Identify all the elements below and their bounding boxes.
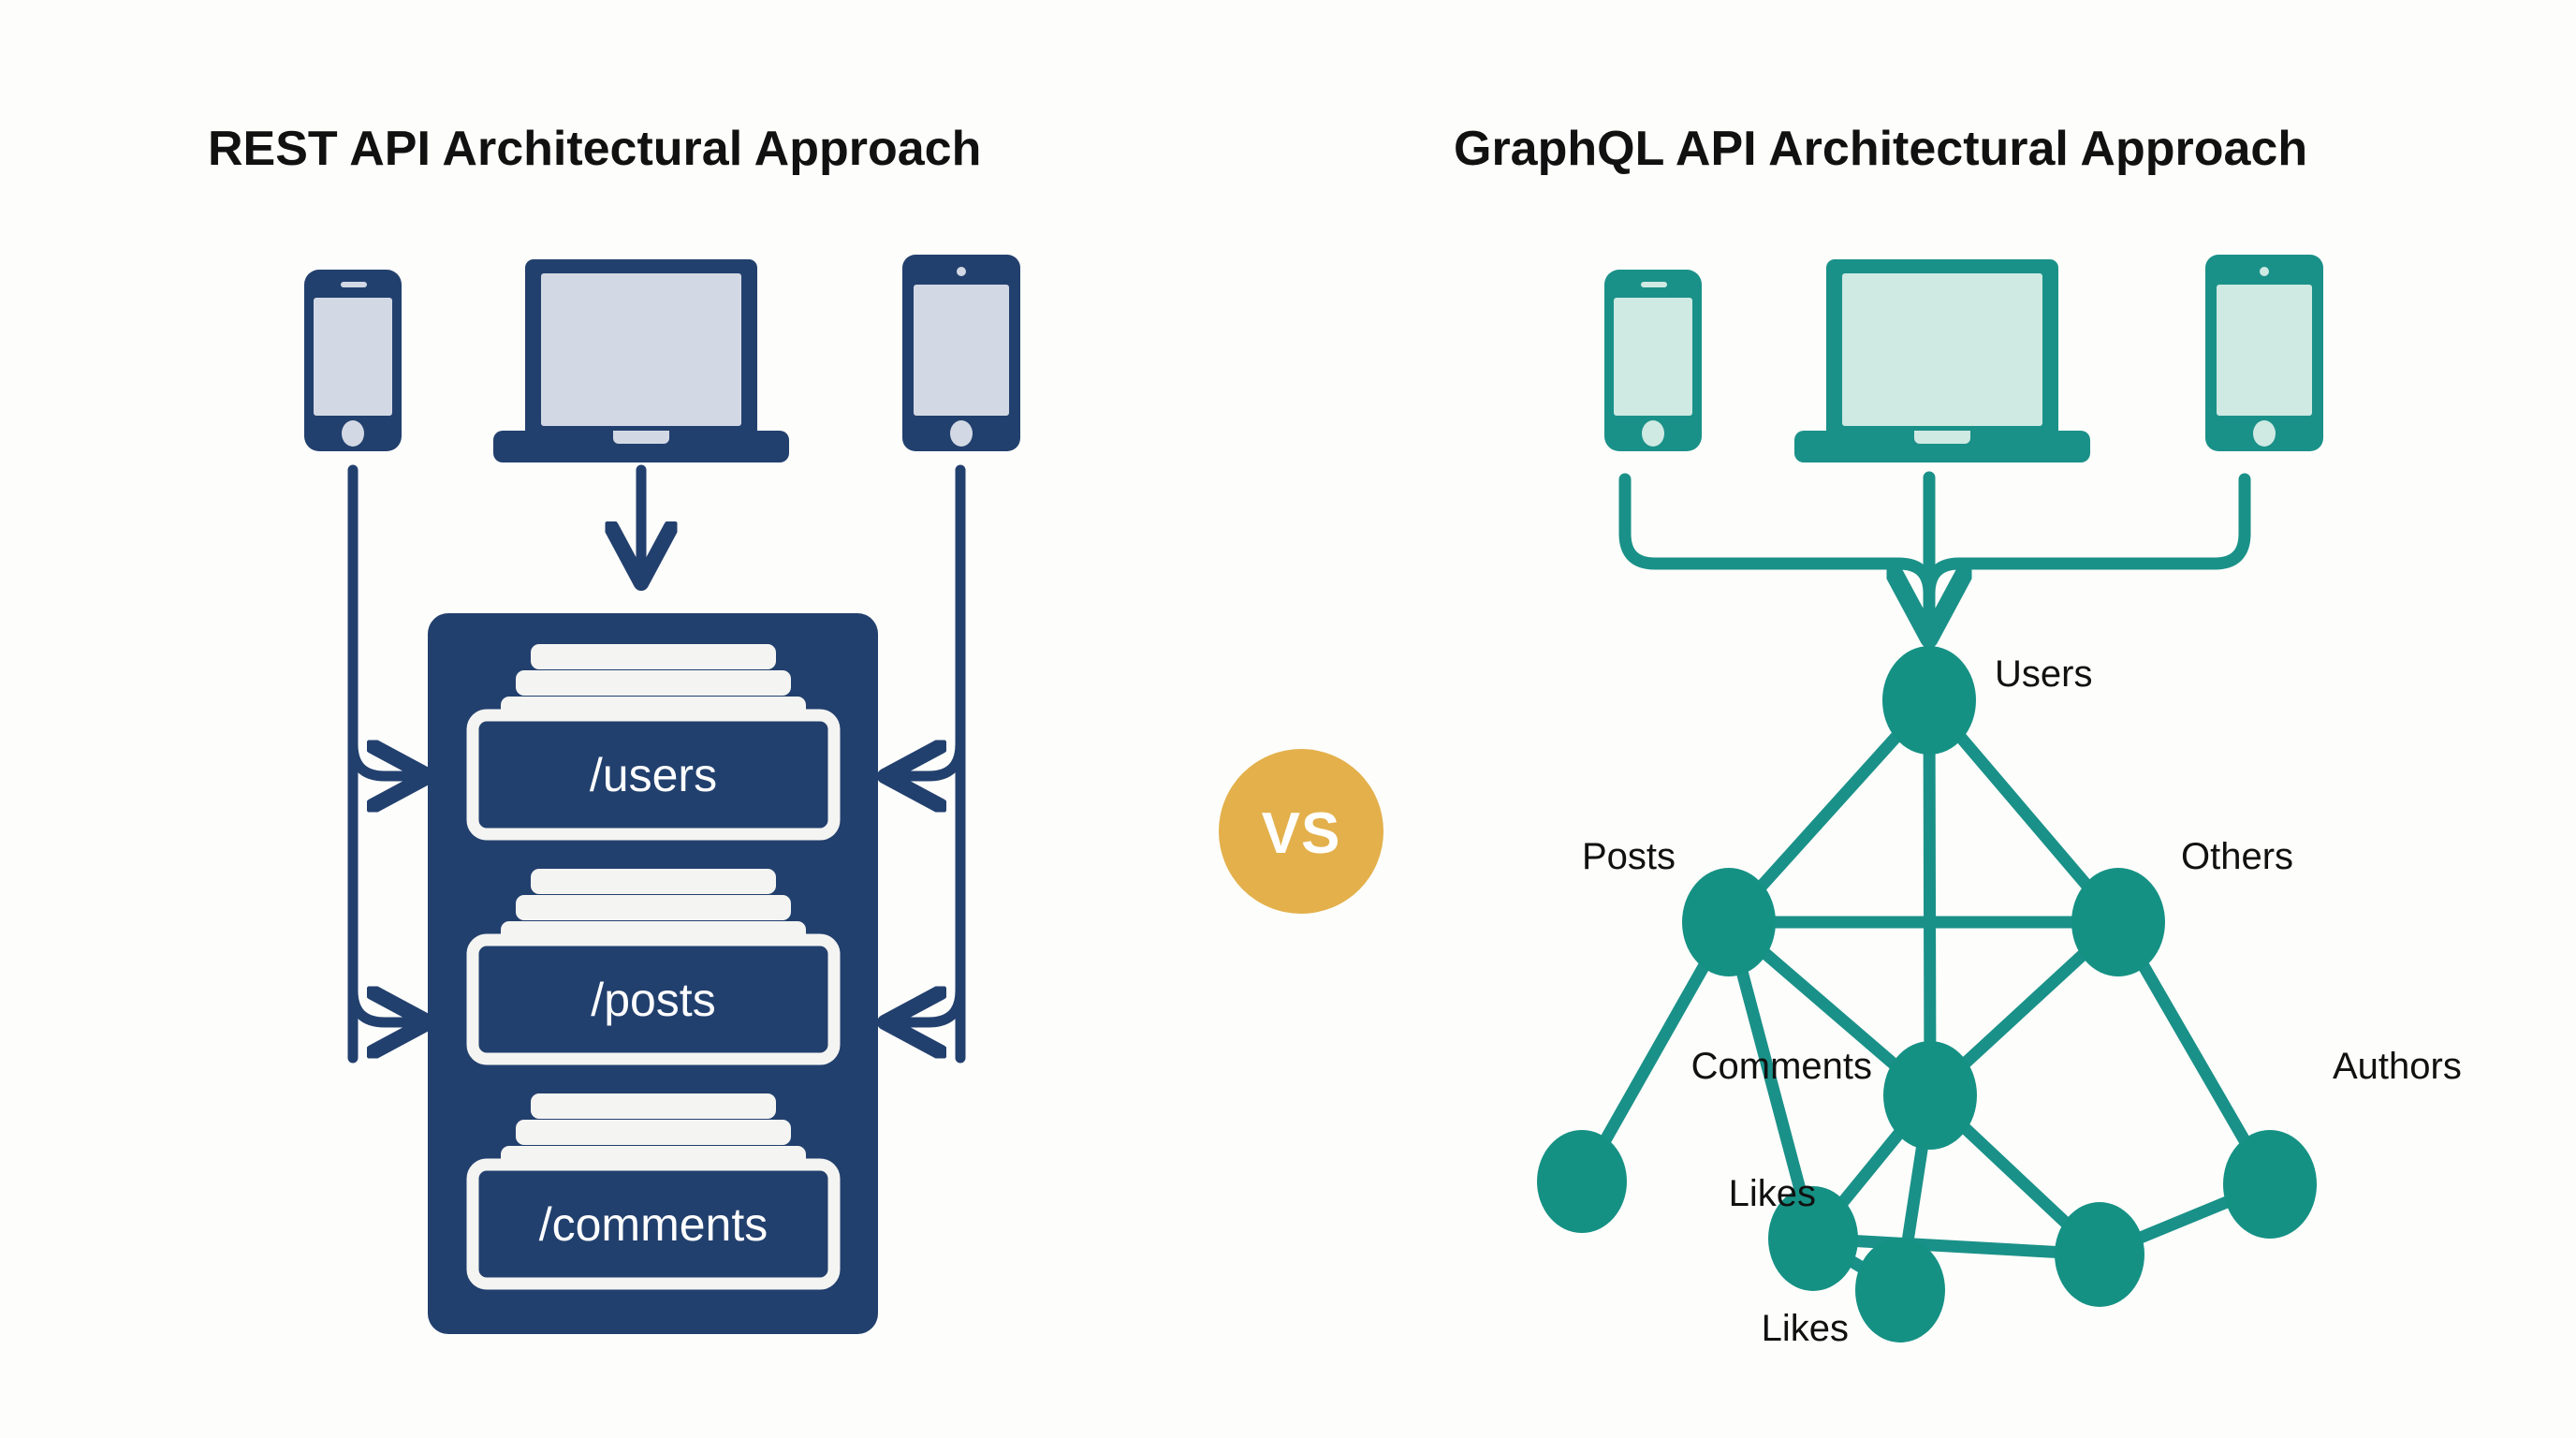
mobile-phone-icon (1604, 270, 1702, 451)
graph-node-label-comments: Comments (1691, 1046, 1872, 1087)
endpoint-card-comments[interactable]: /comments (473, 1093, 834, 1284)
graph-node-orphan[interactable] (1537, 1130, 1627, 1233)
tablet-icon (902, 255, 1020, 451)
tablet-icon (2205, 255, 2323, 451)
endpoint-label-users: /users (590, 749, 717, 801)
graph-node-label-likes-low: Likes (1762, 1308, 1849, 1349)
edge-users-comments (1929, 700, 1930, 1095)
laptop-icon (1794, 259, 2090, 462)
graph-node-authors[interactable] (2223, 1130, 2317, 1239)
rest-panel-title: REST API Architectural Approach (208, 122, 981, 176)
graph-node-others[interactable] (2071, 868, 2165, 976)
graph-node-label-likes-mid: Likes (1729, 1173, 1816, 1214)
graphql-panel-title: GraphQL API Architectural Approach (1454, 122, 2307, 176)
vs-badge-label: VS (1262, 801, 1341, 866)
graph-node-label-posts: Posts (1582, 836, 1676, 877)
mobile-phone-icon (304, 270, 402, 451)
endpoint-card-users[interactable]: /users (473, 644, 834, 834)
graph-node-label-others: Others (2181, 836, 2293, 877)
graph-node-label-authors: Authors (2333, 1046, 2462, 1087)
graph-node-label-users: Users (1995, 653, 2092, 695)
diagram-root: REST API Architectural Approach (0, 0, 2576, 1438)
rest-vs-graphql-diagram: REST API Architectural Approach (0, 0, 2576, 1438)
graph-node-users[interactable] (1882, 646, 1976, 755)
graph-node-likes-low[interactable] (1855, 1238, 1945, 1343)
graph-node-posts[interactable] (1682, 868, 1776, 976)
endpoint-card-posts[interactable]: /posts (473, 869, 834, 1059)
endpoint-label-posts: /posts (591, 974, 715, 1026)
vs-badge: VS (1219, 749, 1383, 914)
graph-node-comments[interactable] (1883, 1041, 1977, 1150)
laptop-icon (493, 259, 789, 462)
endpoint-label-comments: /comments (539, 1198, 768, 1251)
graph-node-unnamed-br[interactable] (2055, 1202, 2144, 1307)
